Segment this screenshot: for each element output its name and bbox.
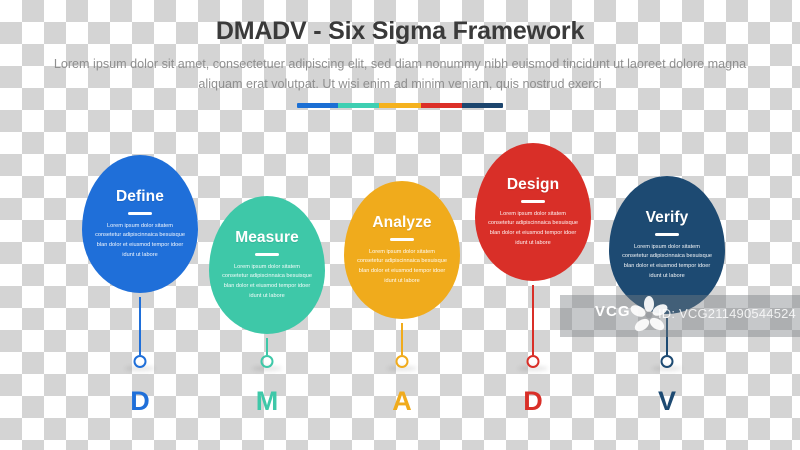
stage-letter: A [392,388,412,415]
balloon-divider [128,212,152,215]
balloon-ring-icon [134,355,147,368]
stage-letter: V [658,388,676,415]
balloon-string [401,323,403,355]
balloon-title: Design [507,176,559,194]
balloon-ring-icon [527,355,540,368]
accent-segment-0 [297,103,338,108]
balloon-title: Verify [646,209,689,227]
accent-segment-1 [338,103,379,108]
page-subtitle: Lorem ipsum dolor sit amet, consectetuer… [50,55,750,94]
balloon-ring-icon [261,355,274,368]
balloon-divider [255,253,279,256]
balloon-body-text: Lorem ipsum dolor sitatem consetetur adi… [487,210,579,248]
balloon-ring-icon [661,355,674,368]
accent-segment-2 [379,103,420,108]
balloon-ring-icon [396,355,409,368]
balloon-divider [390,238,414,241]
balloon[interactable]: DesignLorem ipsum dolor sitatem consetet… [475,143,591,281]
page-title: DMADV - Six Sigma Framework [0,16,800,46]
balloon-string [139,297,141,355]
balloon-body-text: Lorem ipsum dolor sitatem consetetur adi… [221,263,313,301]
balloon-title: Define [116,188,164,206]
balloon[interactable]: MeasureLorem ipsum dolor sitatem consete… [209,196,325,334]
balloon-divider [521,200,545,203]
balloon-divider [655,233,679,236]
accent-color-bar [297,103,503,108]
balloon-body-text: Lorem ipsum dolor sitatem consetetur adi… [621,243,713,281]
balloon-body-text: Lorem ipsum dolor sitatem consetetur adi… [356,248,448,286]
watermark-brand: VCG [595,303,631,320]
stage-letter: D [523,388,543,415]
balloon-body-text: Lorem ipsum dolor sitatem consetetur adi… [94,222,186,260]
balloon-string [532,285,534,355]
balloon[interactable]: AnalyzeLorem ipsum dolor sitatem consete… [344,181,460,319]
infographic-canvas: DMADV - Six Sigma Framework Lorem ipsum … [0,0,800,450]
watermark-id: ID: VCG211490544524 [658,306,796,321]
balloon-title: Analyze [372,214,431,232]
balloon-title: Measure [235,229,299,247]
stage-letter: D [130,388,150,415]
balloon[interactable]: DefineLorem ipsum dolor sitatem consetet… [82,155,198,293]
accent-segment-3 [421,103,462,108]
stage-letter: M [256,388,279,415]
header: DMADV - Six Sigma Framework Lorem ipsum … [0,16,800,108]
balloon-string [266,338,268,355]
accent-segment-4 [462,103,503,108]
